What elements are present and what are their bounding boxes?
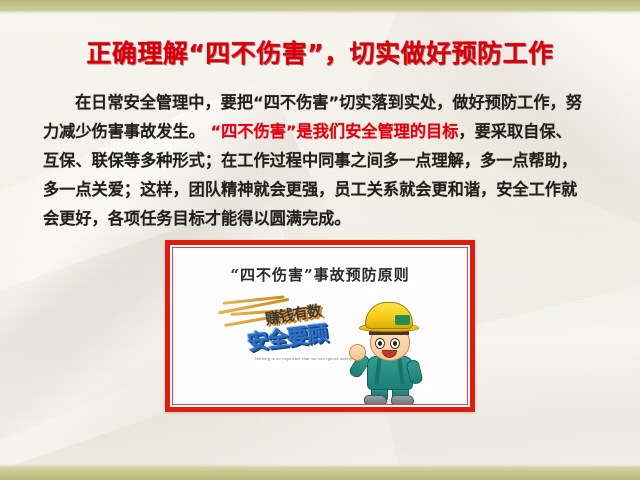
principle-card-inner: “四不伤害”事故预防原则 赚钱有数 安全要顾 Nothing is so imp…	[172, 247, 468, 405]
principle-card-heading: “四不伤害”事故预防原则	[173, 264, 467, 285]
page-title: 正确理解“四不伤害”，切实做好预防工作	[0, 34, 640, 70]
mascot-hard-hat	[365, 302, 413, 329]
safety-poster-artwork: 赚钱有数 安全要顾 Nothing is so important that w…	[173, 296, 467, 405]
body-line: 互保、联保等多种形式；在工作过程中同事之间多一点理解，多一点帮助，	[43, 146, 603, 175]
safety-worker-mascot-icon	[351, 298, 425, 402]
poster-slogan-bottom: 安全要顾	[245, 317, 328, 357]
body-highlight-text: “四不伤害”是我们安全管理的目标	[211, 122, 459, 141]
body-text: ，要采取自保、	[458, 122, 571, 141]
body-text: 会更好，各项任务目标才能得以圆满完成。	[43, 209, 351, 228]
body-text: 在日常安全管理中，要把“四不伤害”切实落到实处，做好预防工作，努	[75, 93, 582, 112]
top-accent-bar	[0, 0, 640, 11]
mascot-waving-hand	[349, 344, 366, 361]
bottom-accent-bar	[0, 467, 640, 480]
body-text: 力减少伤害事故发生。	[43, 122, 211, 141]
page-title-text: 正确理解“四不伤害”，切实做好预防工作	[86, 34, 553, 70]
body-line: 多一点关爱；这样，团队精神就会更强，员工关系就会更和谐，安全工作就	[43, 175, 603, 204]
body-paragraph: 在日常安全管理中，要把“四不伤害”切实落到实处，做好预防工作，努力减少伤害事故发…	[43, 88, 603, 233]
body-text: 多一点关爱；这样，团队精神就会更强，员工关系就会更和谐，安全工作就	[43, 180, 577, 199]
slide-canvas: 正确理解“四不伤害”，切实做好预防工作 在日常安全管理中，要把“四不伤害”切实落…	[0, 0, 640, 480]
body-text: 互保、联保等多种形式；在工作过程中同事之间多一点理解，多一点帮助，	[43, 151, 577, 170]
body-line: 力减少伤害事故发生。 “四不伤害”是我们安全管理的目标，要采取自保、	[43, 117, 603, 146]
principle-card: “四不伤害”事故预防原则 赚钱有数 安全要顾 Nothing is so imp…	[165, 240, 475, 412]
body-line: 在日常安全管理中，要把“四不伤害”切实落到实处，做好预防工作，努	[43, 88, 603, 117]
body-line: 会更好，各项任务目标才能得以圆满完成。	[43, 204, 603, 233]
